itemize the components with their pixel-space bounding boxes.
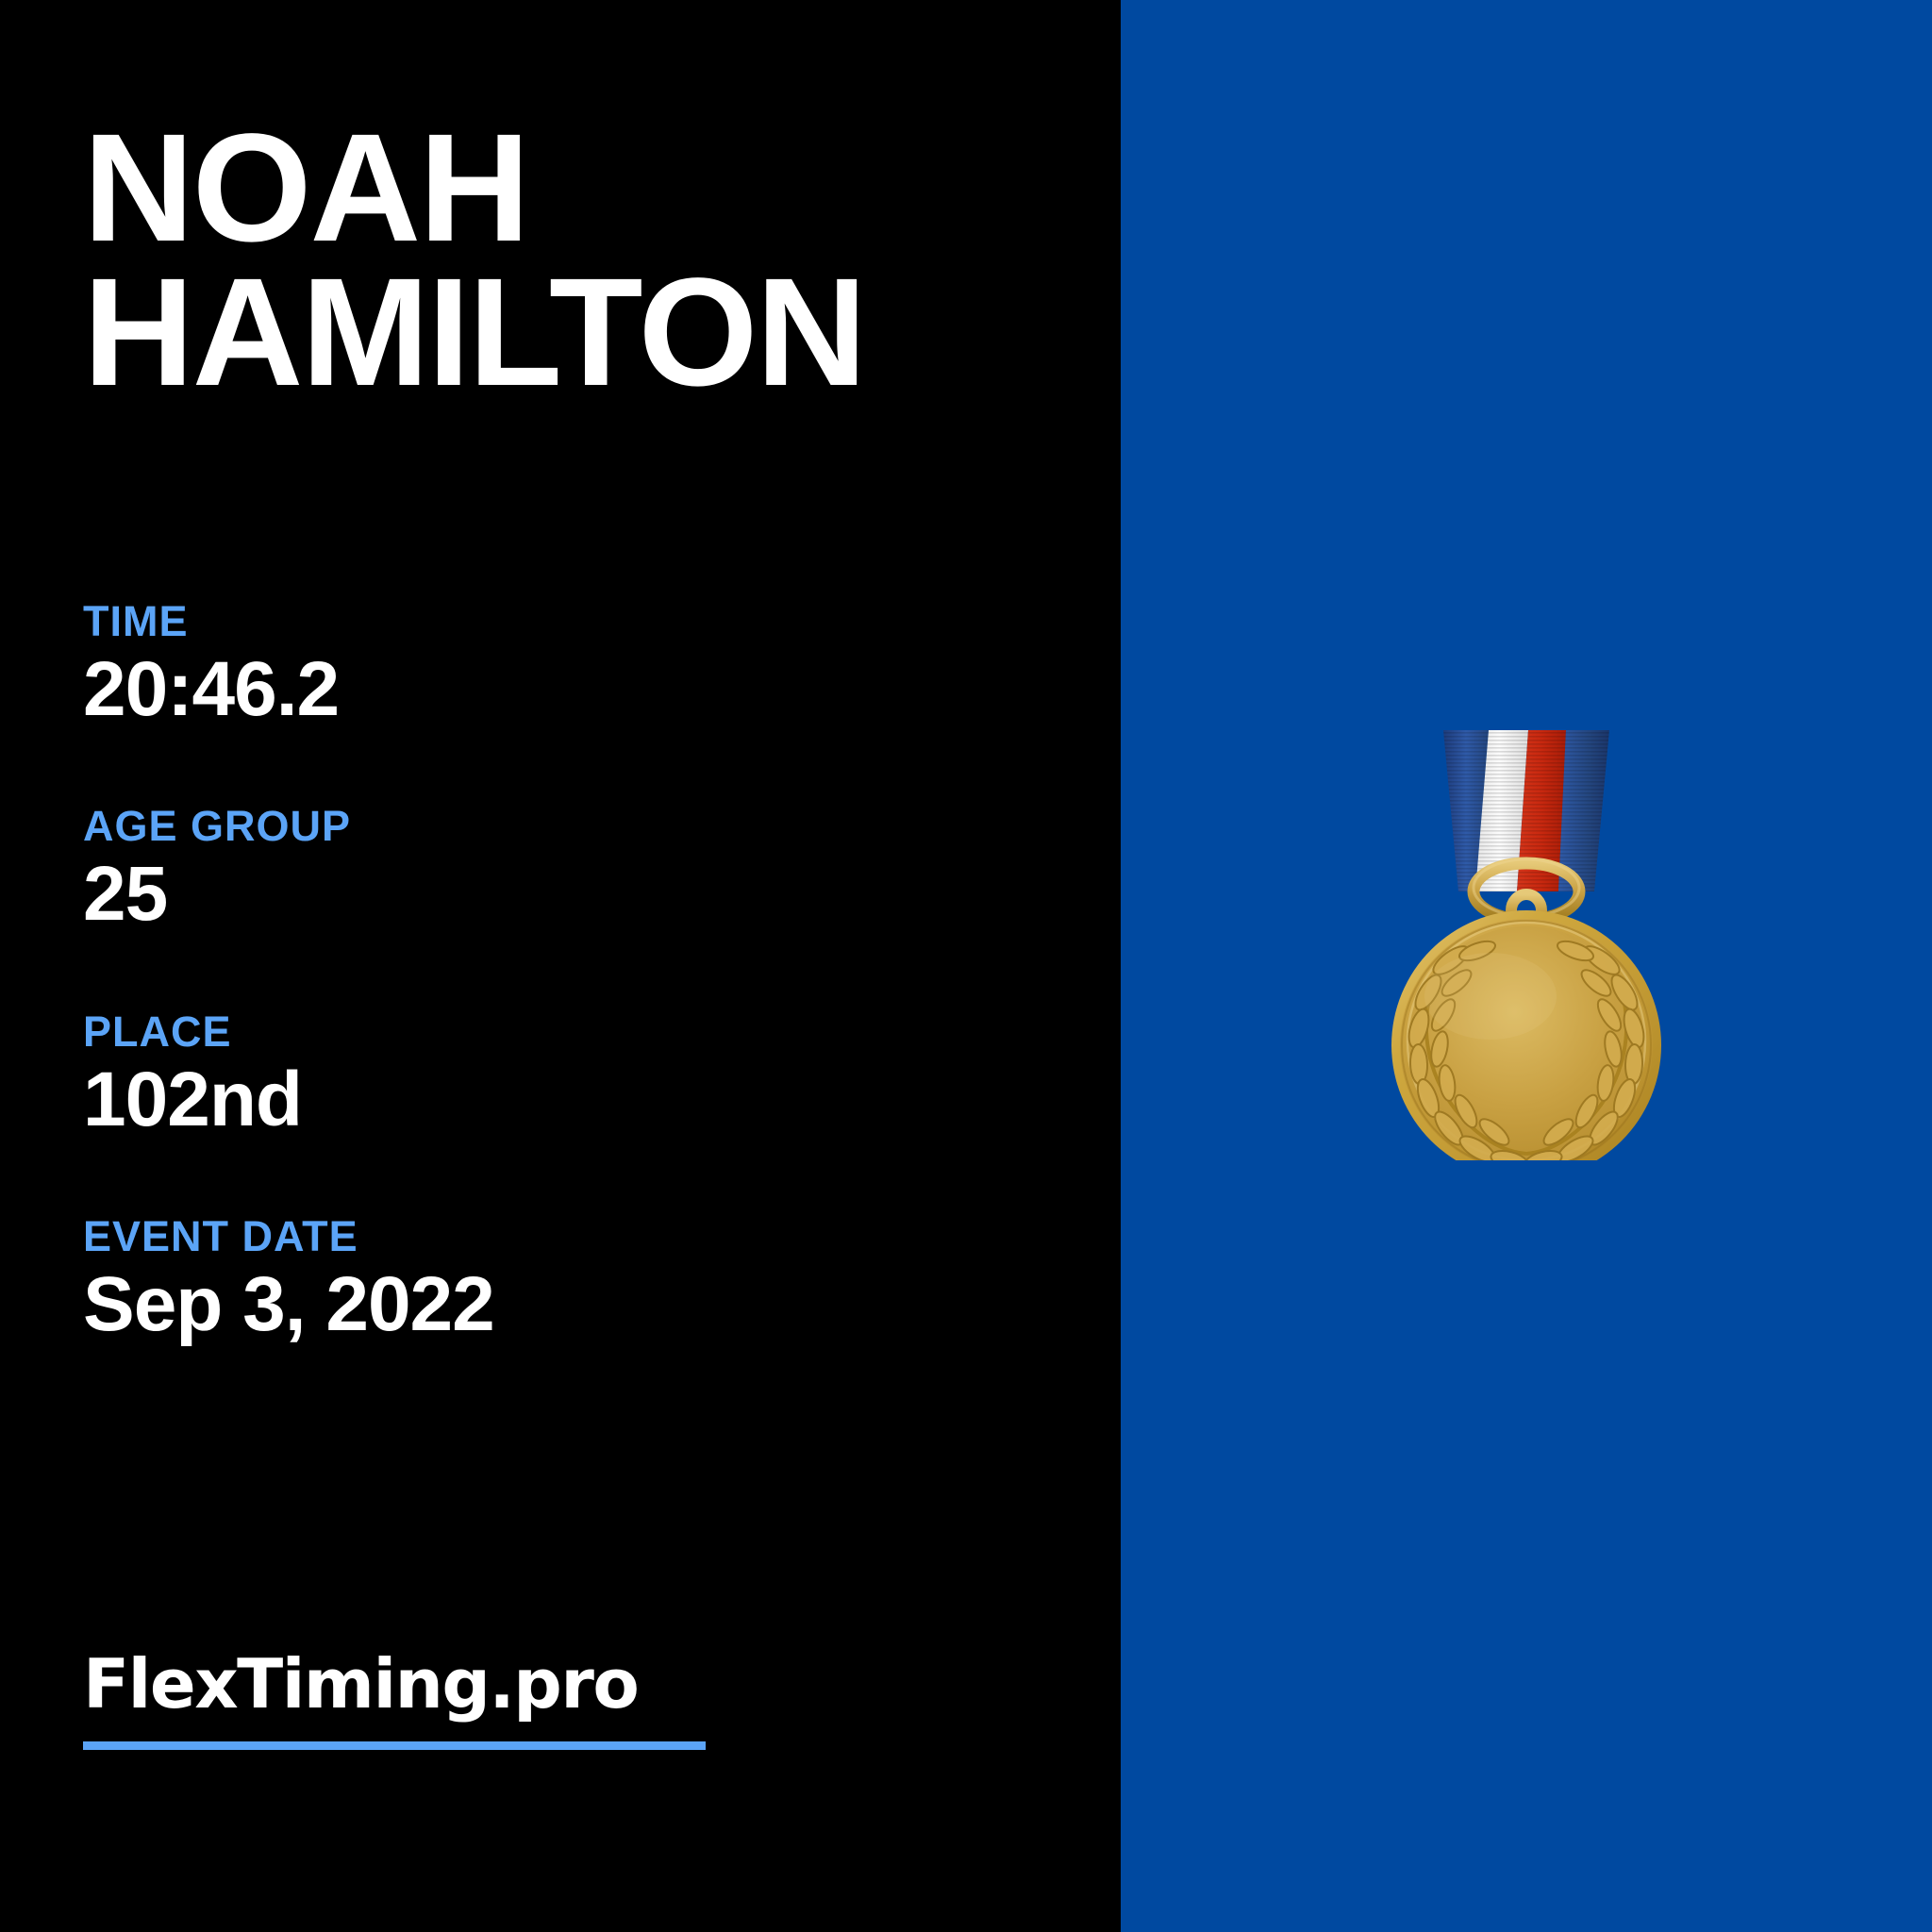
stat-label-time: TIME (83, 600, 1064, 642)
stat-time: TIME 20:46.2 (83, 600, 1064, 729)
stat-value-place: 102nd (83, 1060, 1064, 1140)
stat-value-time: 20:46.2 (83, 650, 1064, 729)
stats-list: TIME 20:46.2 AGE GROUP 25 PLACE 102nd EV… (83, 600, 1064, 1345)
brand-logo[interactable]: FlexTiming.pro (83, 1649, 724, 1750)
stat-place: PLACE 102nd (83, 1010, 1064, 1140)
race-result-card: NOAH HAMILTON TIME 20:46.2 AGE GROUP 25 … (0, 0, 1932, 1932)
content-column: NOAH HAMILTON TIME 20:46.2 AGE GROUP 25 … (0, 0, 1121, 1932)
stat-age-group: AGE GROUP 25 (83, 805, 1064, 934)
medal-ribbon (1432, 726, 1621, 898)
stat-label-place: PLACE (83, 1010, 1064, 1053)
gold-medal-icon (1357, 717, 1696, 1160)
stat-event-date: EVENT DATE Sep 3, 2022 (83, 1215, 1064, 1344)
athlete-name: NOAH HAMILTON (83, 115, 1064, 404)
stat-value-age-group: 25 (83, 855, 1064, 934)
stat-value-event-date: Sep 3, 2022 (83, 1265, 1064, 1344)
stat-label-age-group: AGE GROUP (83, 805, 1064, 847)
stat-label-event-date: EVENT DATE (83, 1215, 1064, 1257)
brand-logo-underline (83, 1741, 706, 1750)
brand-logo-text: FlexTiming.pro (83, 1649, 724, 1721)
